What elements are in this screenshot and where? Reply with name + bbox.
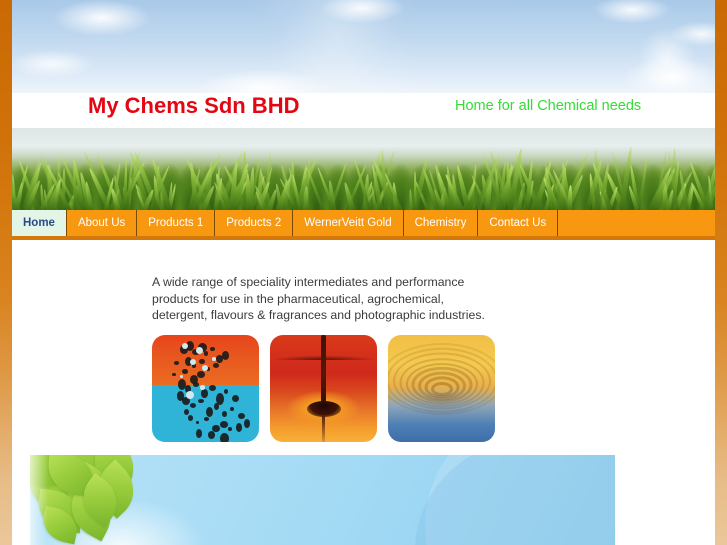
splash-droplet <box>190 403 196 408</box>
splash-droplet <box>196 429 202 438</box>
splash-highlight <box>196 347 203 354</box>
ripple-ring <box>388 343 495 415</box>
splash-droplet <box>220 421 228 428</box>
stream-reflection <box>322 415 325 442</box>
splash-droplet <box>238 413 245 419</box>
nav-item-wernerveitt-gold[interactable]: WernerVeitt Gold <box>293 210 403 236</box>
right-border-stripe <box>715 0 727 545</box>
splash-droplet <box>224 389 228 394</box>
leaf-cluster <box>30 455 154 527</box>
splash-droplet <box>174 361 179 365</box>
splash-droplet <box>206 407 213 417</box>
green-grass-banner <box>12 128 715 210</box>
splash-droplet <box>201 389 208 398</box>
nav-item-home[interactable]: Home <box>12 210 67 236</box>
thumbnail-water-ripple-gold-blue[interactable] <box>388 335 495 442</box>
main-navigation: HomeAbout UsProducts 1Products 2WernerVe… <box>12 210 715 240</box>
splash-droplet <box>230 407 234 411</box>
thumbnail-water-drop-stream-red[interactable] <box>270 335 377 442</box>
site-title: My Chems Sdn BHD <box>88 93 299 119</box>
splash-highlight <box>186 391 194 399</box>
left-border-stripe <box>0 0 12 545</box>
splash-droplet <box>209 385 216 391</box>
splash-droplet <box>182 369 188 374</box>
splash-droplet <box>222 411 227 417</box>
intro-paragraph: A wide range of speciality intermediates… <box>152 274 497 323</box>
splash-droplet <box>199 359 205 364</box>
splash-highlight <box>200 385 205 390</box>
splash-highlight <box>212 357 216 361</box>
splash-droplet <box>188 415 193 421</box>
splash-droplet <box>214 403 219 410</box>
splash-droplet <box>198 399 204 403</box>
splash-droplet <box>244 419 250 428</box>
page-root: My Chems Sdn BHD Home for all Chemical n… <box>0 0 727 545</box>
splash-droplet <box>210 347 215 351</box>
splash-droplet <box>204 417 209 421</box>
nav-item-contact-us[interactable]: Contact Us <box>478 210 558 236</box>
thumbnail-gallery <box>152 335 495 442</box>
banner-left-fade <box>30 455 48 545</box>
splash-droplet <box>184 409 189 415</box>
splash-droplet <box>228 427 232 431</box>
splash-droplet <box>232 395 239 402</box>
green-leaves-sky-banner <box>30 455 615 545</box>
thumbnail-water-splash-red-blue[interactable] <box>152 335 259 442</box>
site-tagline: Home for all Chemical needs <box>455 98 641 114</box>
splash-droplet <box>197 371 205 378</box>
splash-droplet <box>196 421 199 424</box>
splash-droplet <box>193 382 199 387</box>
sky-clouds-banner <box>12 0 715 93</box>
splash-droplet <box>213 363 219 368</box>
splash-droplet <box>220 433 229 442</box>
nav-item-products-2[interactable]: Products 2 <box>215 210 293 236</box>
title-strip: My Chems Sdn BHD Home for all Chemical n… <box>12 93 715 128</box>
splash-droplet <box>236 423 242 432</box>
nav-item-products-1[interactable]: Products 1 <box>137 210 215 236</box>
splash-highlight <box>180 375 183 378</box>
splash-droplet <box>222 351 229 360</box>
nav-empty-space <box>558 210 715 236</box>
splash-droplet <box>172 373 176 376</box>
nav-item-chemistry[interactable]: Chemistry <box>404 210 479 236</box>
splash-droplet <box>208 431 215 439</box>
splash-droplet <box>204 351 208 356</box>
nav-item-about-us[interactable]: About Us <box>67 210 137 236</box>
